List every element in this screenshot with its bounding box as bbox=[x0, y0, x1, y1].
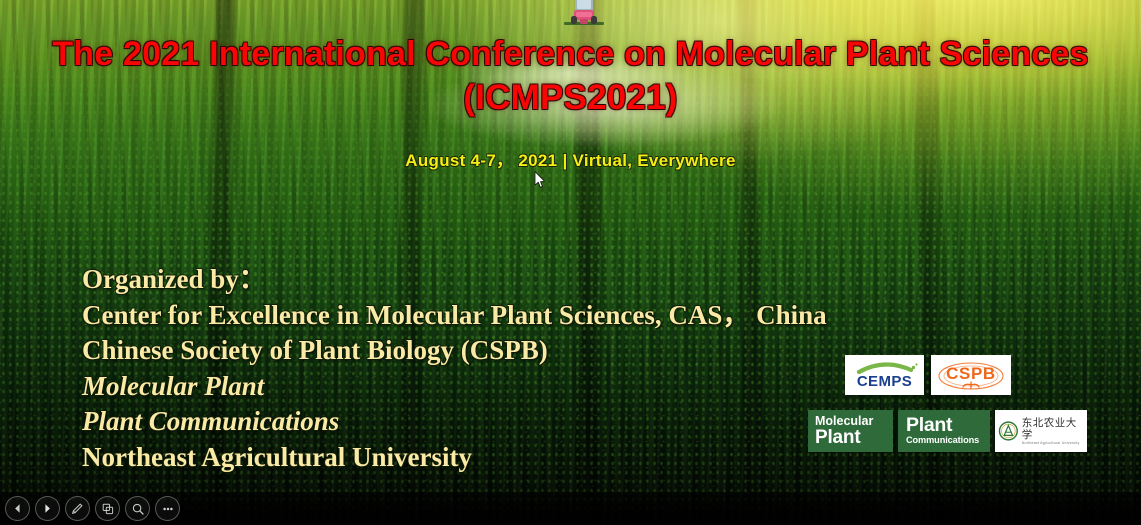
magnifier-icon bbox=[131, 502, 145, 516]
zoom-slide-button[interactable] bbox=[125, 496, 150, 521]
molecular-plant-logo-line-2: Plant bbox=[815, 428, 893, 447]
organizer-molecular-plant: Molecular Plant bbox=[82, 369, 827, 405]
pen-icon bbox=[70, 501, 85, 516]
conference-title-line-1: The 2021 International Conference on Mol… bbox=[0, 32, 1141, 76]
triangle-right-icon bbox=[42, 503, 53, 514]
svg-text:CSPB: CSPB bbox=[946, 364, 996, 383]
molecular-plant-logo: Molecular Plant bbox=[808, 410, 893, 452]
organizer-plant-comms: Plant Communications bbox=[82, 404, 827, 440]
slide-title-block: The 2021 International Conference on Mol… bbox=[0, 32, 1141, 120]
next-slide-button[interactable] bbox=[35, 496, 60, 521]
neau-english-name: Northeast Agricultural University bbox=[1022, 441, 1084, 446]
organizers-block: Organized by： Center for Excellence in M… bbox=[82, 262, 827, 475]
logo-row-top: CEMPS CSPB bbox=[845, 355, 1011, 395]
cspb-logo: CSPB bbox=[931, 355, 1011, 395]
presenter-toolbar bbox=[0, 492, 1141, 525]
mouse-cursor bbox=[534, 171, 546, 189]
conference-date-venue: August 4-7， 2021 | Virtual, Everywhere bbox=[0, 146, 1141, 171]
conference-title-line-2: (ICMPS2021) bbox=[0, 76, 1141, 120]
plant-comms-logo-line-1: Plant bbox=[906, 416, 990, 435]
pen-tools-button[interactable] bbox=[65, 496, 90, 521]
organizer-cemps: Center for Excellence in Molecular Plant… bbox=[82, 298, 827, 334]
svg-text:CEMPS: CEMPS bbox=[857, 373, 912, 390]
neau-chinese-name: 东北农业大学 bbox=[1022, 417, 1084, 441]
ellipsis-icon bbox=[161, 502, 175, 516]
plant-communications-logo: Plant Communications bbox=[898, 410, 990, 452]
plant-comms-logo-line-2: Communications bbox=[906, 435, 990, 446]
organizer-neau: Northeast Agricultural University bbox=[82, 440, 827, 476]
organized-by-heading: Organized by： bbox=[82, 262, 827, 298]
triangle-left-icon bbox=[12, 503, 23, 514]
slide-overview-button[interactable] bbox=[95, 496, 120, 521]
organizer-cspb: Chinese Society of Plant Biology (CSPB) bbox=[82, 333, 827, 369]
presentation-slide[interactable]: The 2021 International Conference on Mol… bbox=[0, 0, 1141, 525]
more-options-button[interactable] bbox=[155, 496, 180, 521]
logo-row-bottom: Molecular Plant Plant Communications 东北农… bbox=[808, 410, 1087, 452]
grid-icon bbox=[101, 502, 115, 516]
previous-slide-button[interactable] bbox=[5, 496, 30, 521]
cemps-logo: CEMPS bbox=[845, 355, 924, 395]
neau-logo: 东北农业大学 Northeast Agricultural University bbox=[995, 410, 1087, 452]
neau-emblem-icon bbox=[998, 420, 1019, 442]
